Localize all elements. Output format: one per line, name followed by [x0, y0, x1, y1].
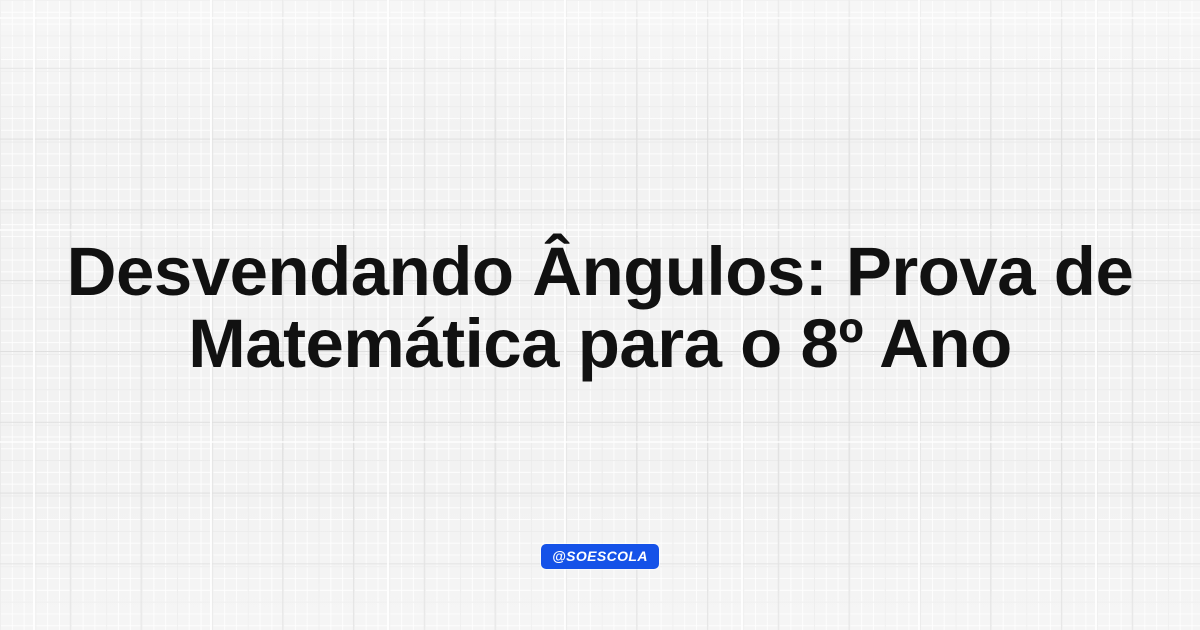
watermark-badge: @SOESCOLA: [541, 544, 659, 569]
cover-image-canvas: Desvendando Ângulos: Prova de Matemática…: [0, 0, 1200, 630]
page-title: Desvendando Ângulos: Prova de Matemática…: [40, 236, 1160, 380]
title-container: Desvendando Ângulos: Prova de Matemática…: [0, 236, 1200, 380]
watermark-container: @SOESCOLA: [0, 544, 1200, 569]
